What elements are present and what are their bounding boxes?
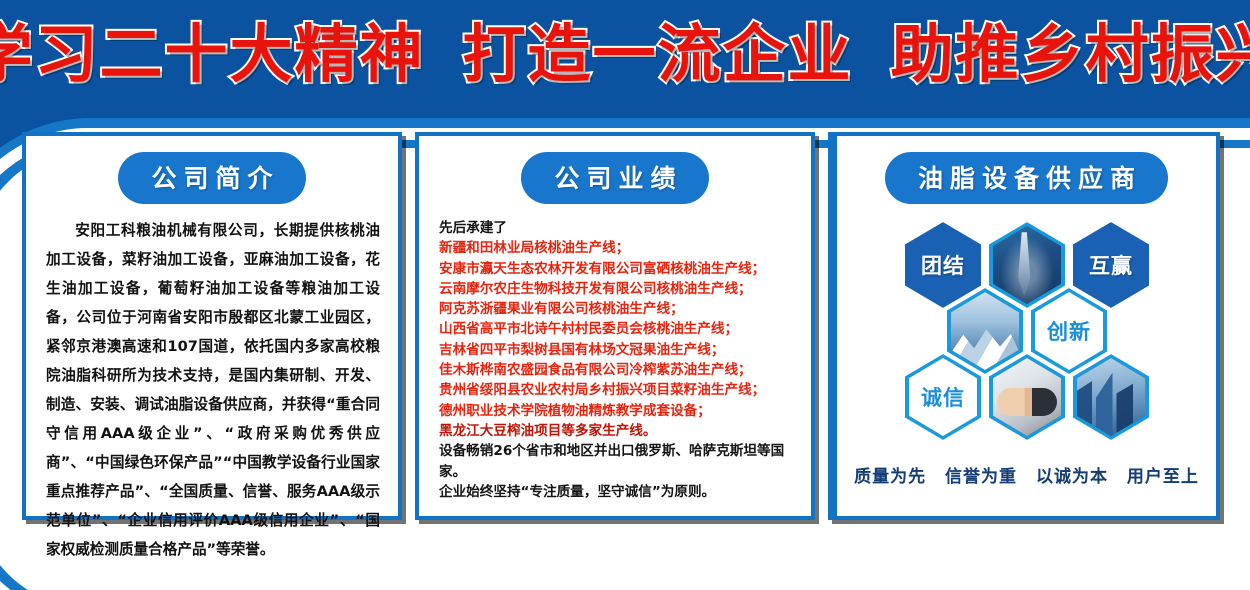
hex-mutual-win: 互赢 <box>1073 222 1149 308</box>
record-item: 黑龙江大豆榨油项目等多家生产线。 <box>439 421 797 441</box>
record-item: 安康市瀛天生态农林开发有限公司富硒核桃油生产线； <box>439 259 797 279</box>
record-item: 吉林省四平市梨树县国有林场文冠果油生产线； <box>439 340 797 360</box>
record-item: 新疆和田林业局核桃油生产线； <box>439 238 797 258</box>
hexagon-cluster: 团结 互赢 创新 诚信 <box>837 216 1216 454</box>
slogan-part-2: 信誉为重 <box>945 467 1017 487</box>
banner-title-word-1: 学习二十大精神 <box>0 23 425 86</box>
slogan-part-1: 质量为先 <box>854 467 926 487</box>
record-tail-text: 设备畅销26个省市和地区并出口俄罗斯、哈萨克斯坦等国家。 <box>439 441 797 482</box>
record-item: 山西省高平市北诗午村村民委员会核桃油生产线； <box>439 319 797 339</box>
panel-supply-heading: 油脂设备供应商 <box>885 152 1168 204</box>
slogan-part-4: 用户至上 <box>1127 467 1199 487</box>
supply-slogan-row: 质量为先 信誉为重 以诚为本 用户至上 <box>837 462 1216 487</box>
record-item: 佳木斯桦南农盛园食品有限公司冷榨紫苏油生产线； <box>439 360 797 380</box>
panel-oil-equipment-supplier: 油脂设备供应商 团结 互赢 创新 诚信 <box>828 132 1220 520</box>
hex-unity: 团结 <box>905 222 981 308</box>
skyscraper-icon <box>1077 358 1145 436</box>
record-item: 阿克苏浙疆果业有限公司核桃油生产线； <box>439 299 797 319</box>
record-item: 云南摩尔农庄生物科技开发有限公司核桃油生产线； <box>439 279 797 299</box>
hex-label-innovation: 创新 <box>1047 316 1091 346</box>
hex-label-mutual-win: 互赢 <box>1089 250 1133 280</box>
slogan-part-3: 以诚为本 <box>1036 467 1108 487</box>
hex-label-integrity: 诚信 <box>921 382 965 412</box>
banner-title-word-3: 助推乡村振兴 <box>891 23 1250 86</box>
hex-label-unity: 团结 <box>921 250 965 280</box>
record-item: 德州职业技术学院植物油精炼教学成套设备； <box>439 401 797 421</box>
panel-company-body-text: 安阳工科粮油机械有限公司，长期提供核桃油加工设备，菜籽油加工设备，亚麻油加工设备… <box>26 204 398 564</box>
panel-company-record: 公司业绩 先后承建了 新疆和田林业局核桃油生产线； 安康市瀛天生态农林开发有限公… <box>415 132 815 520</box>
record-lead-text: 先后承建了 <box>439 218 797 238</box>
panel-record-heading: 公司业绩 <box>521 152 708 204</box>
hex-handshake-photo <box>989 354 1065 440</box>
banner-title-bar: 学习二十大精神 打造一流企业 助推乡村振兴 <box>0 0 1250 108</box>
hex-skyscraper-photo <box>1073 354 1149 440</box>
aircraft-carrier-icon <box>993 226 1061 304</box>
snow-mountain-icon <box>951 292 1019 370</box>
hex-innovation: 创新 <box>1031 288 1107 374</box>
panel-record-body: 先后承建了 新疆和田林业局核桃油生产线； 安康市瀛天生态农林开发有限公司富硒核桃… <box>419 204 811 502</box>
banner-title-word-2: 打造一流企业 <box>463 23 853 86</box>
hex-integrity: 诚信 <box>905 354 981 440</box>
hex-snow-mountain-photo <box>947 288 1023 374</box>
panel-company-heading: 公司简介 <box>118 152 305 204</box>
record-item: 贵州省绥阳县农业农村局乡村振兴项目菜籽油生产线； <box>439 380 797 400</box>
hex-aircraft-carrier-photo <box>989 222 1065 308</box>
panels-row: 公司简介 安阳工科粮油机械有限公司，长期提供核桃油加工设备，菜籽油加工设备，亚麻… <box>0 108 1250 590</box>
panel-company-profile: 公司简介 安阳工科粮油机械有限公司，长期提供核桃油加工设备，菜籽油加工设备，亚麻… <box>22 132 402 520</box>
handshake-icon <box>993 358 1061 436</box>
record-tail-text: 企业始终坚持“专注质量，坚守诚信”为原则。 <box>439 482 797 502</box>
